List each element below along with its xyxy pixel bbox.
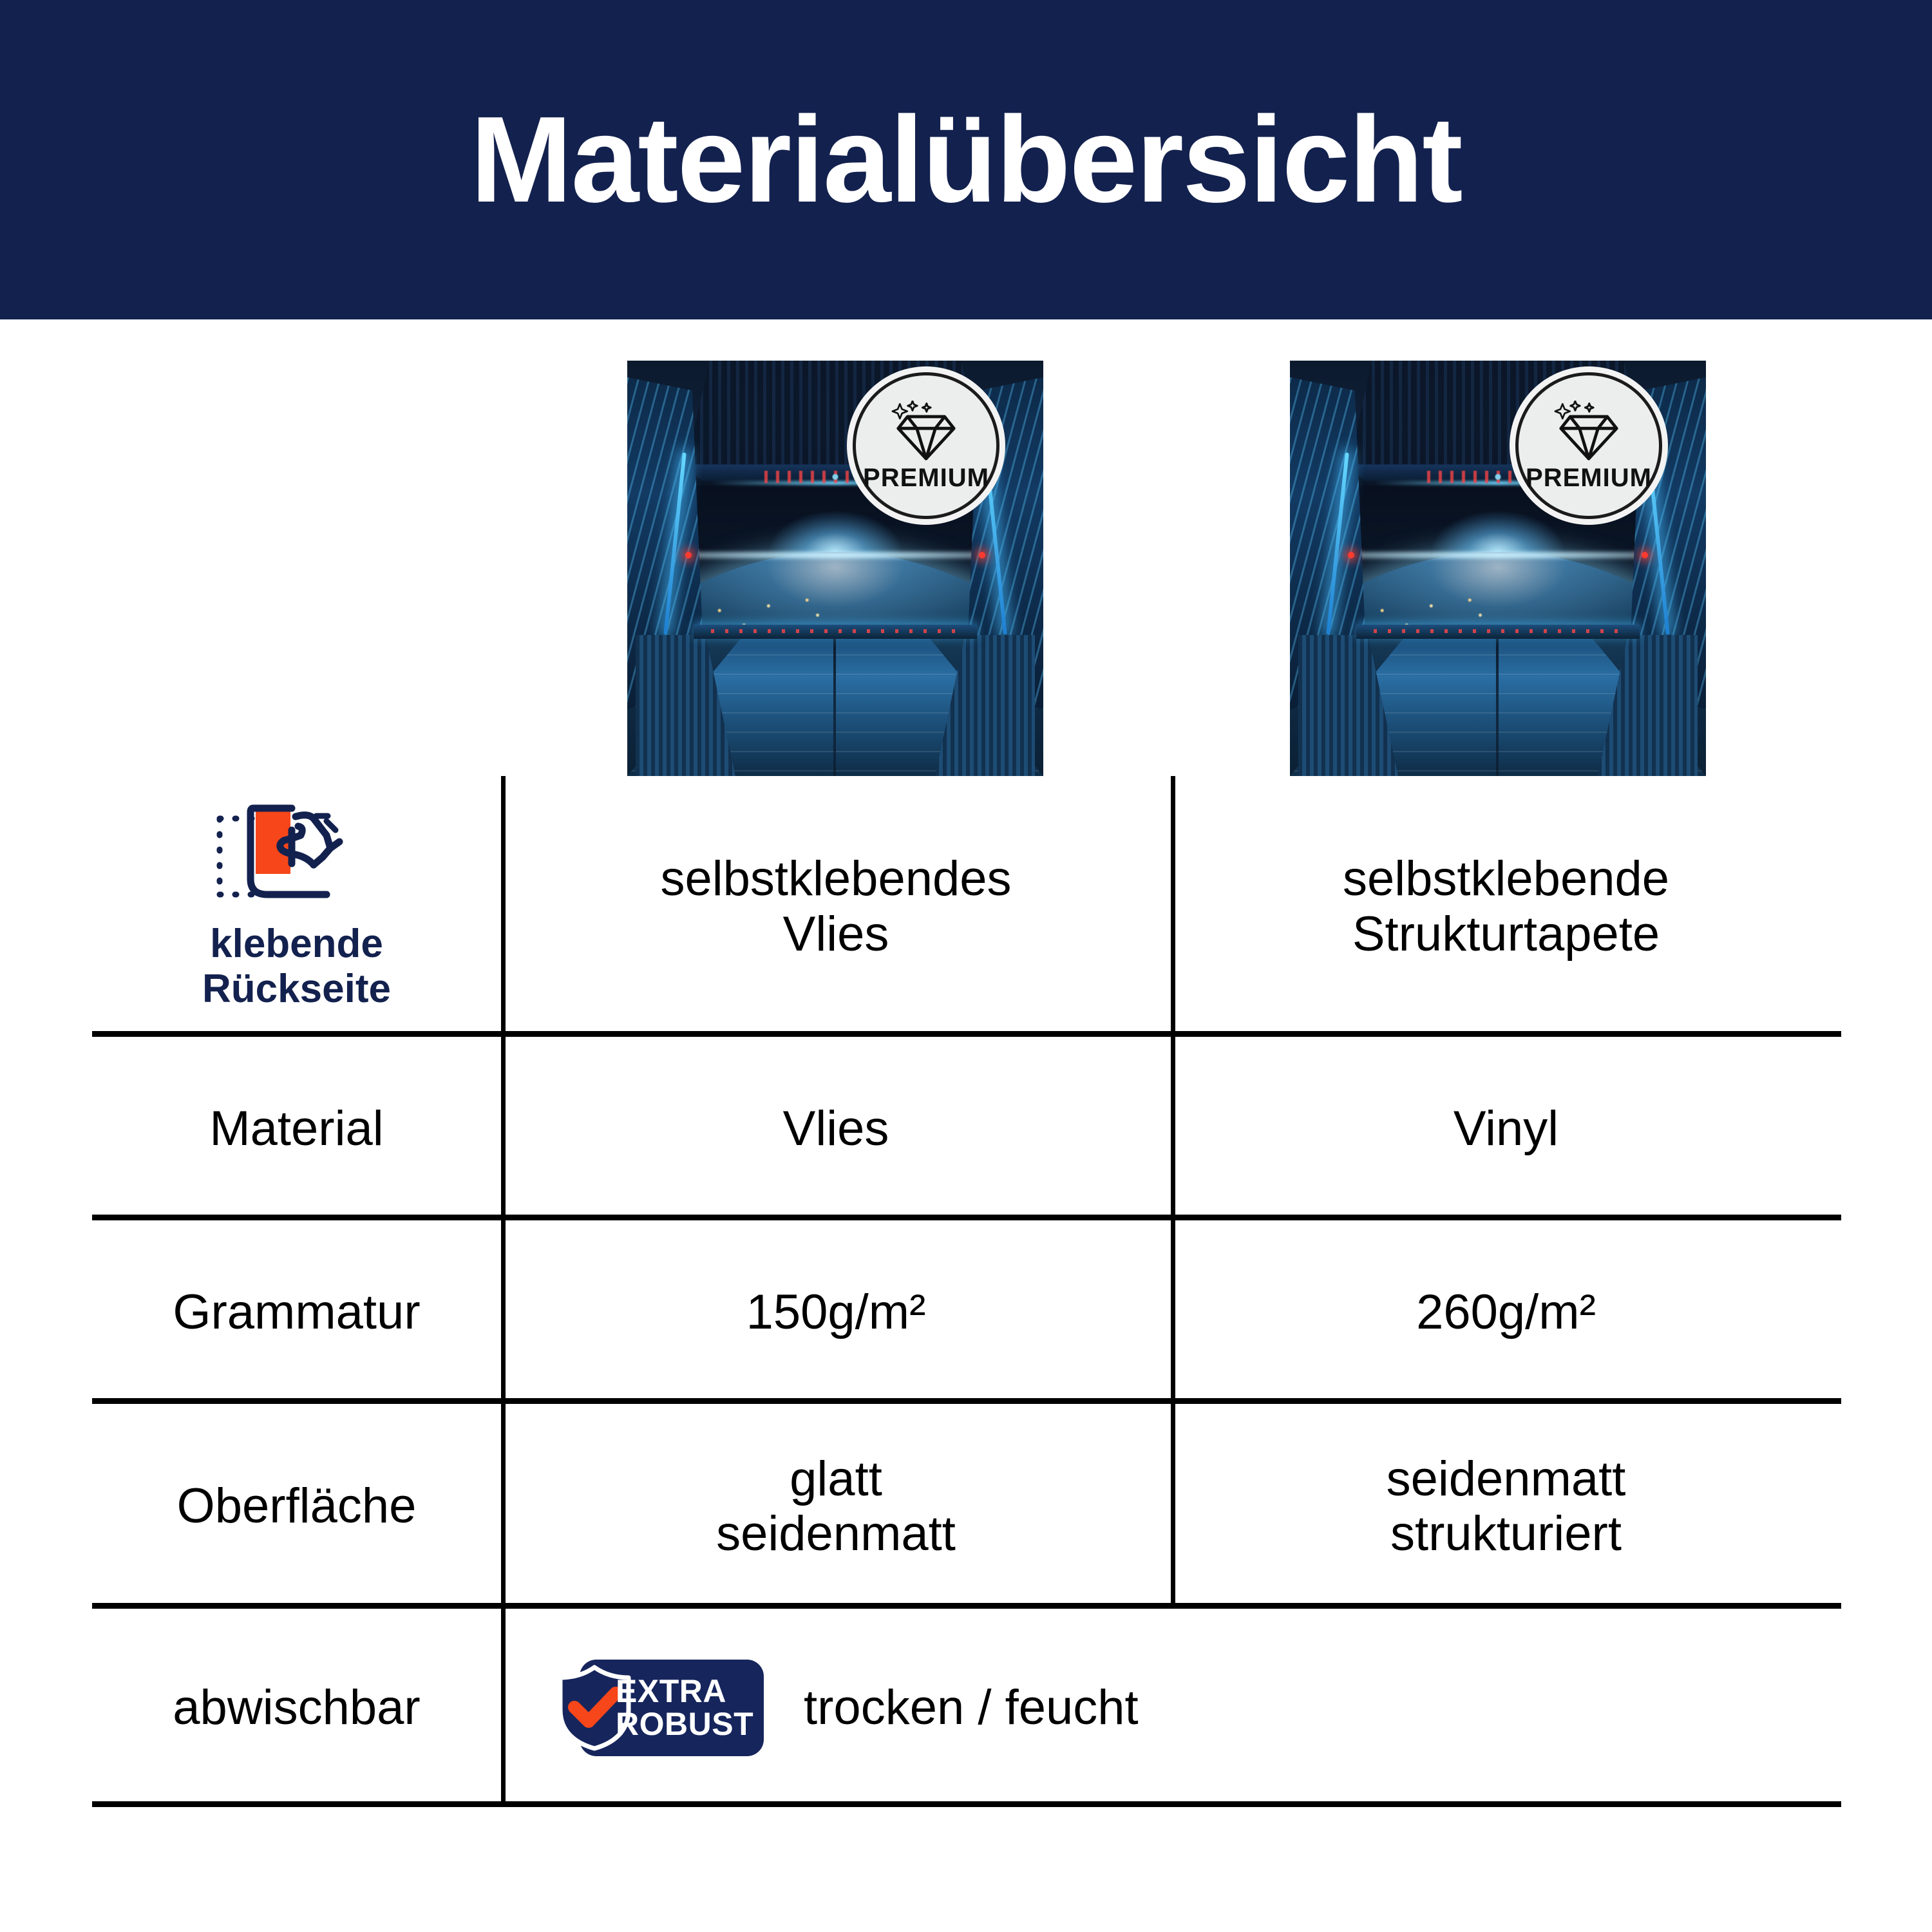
column-header-vlies-line1: selbstklebendes xyxy=(660,851,1011,906)
cell-oberflaeche-vlies-line2: seidenmatt xyxy=(716,1506,956,1561)
backing-cell: klebende Rückseite xyxy=(92,802,501,1011)
product-preview-vlies[interactable]: PREMIUM xyxy=(627,361,1043,776)
extra-robust-line1: EXTRA xyxy=(616,1675,726,1708)
backing-label-line1: klebende xyxy=(210,922,383,966)
table-row-grammatur: Grammatur 150g/m² 260g/m² xyxy=(92,1220,1841,1404)
cell-abwischbar-value: EXTRA ROBUST trocken / feucht xyxy=(501,1660,1841,1756)
table-row-header: klebende Rückseite selbstklebendes Vlies… xyxy=(92,776,1841,1037)
column-header-strukturtapete: selbstklebende Strukturtapete xyxy=(1171,851,1841,961)
backing-label: klebende Rückseite xyxy=(202,922,391,1011)
cell-oberflaeche-vlies: glatt seidenmatt xyxy=(501,1452,1171,1561)
row-label-material: Material xyxy=(92,1101,501,1156)
material-comparison-table: klebende Rückseite selbstklebendes Vlies… xyxy=(92,776,1841,1807)
column-header-strukturtapete-line2: Strukturtapete xyxy=(1352,907,1660,961)
adhesive-backing-icon xyxy=(213,802,381,911)
cell-grammatur-vinyl: 260g/m² xyxy=(1171,1285,1841,1340)
page-title: Materialübersicht xyxy=(470,99,1461,221)
table-row-abwischbar: abwischbar EXTRA ROBUST trocken / feucht xyxy=(92,1609,1841,1807)
cell-abwischbar-text: trocken / feucht xyxy=(804,1680,1139,1735)
extra-robust-badge: EXTRA ROBUST xyxy=(546,1660,764,1756)
table-row-material: Material Vlies Vinyl xyxy=(92,1037,1841,1220)
cell-oberflaeche-vinyl-line1: seidenmatt xyxy=(1387,1452,1626,1506)
cell-material-vlies: Vlies xyxy=(501,1101,1171,1156)
premium-badge: PREMIUM xyxy=(853,372,999,519)
table-row-oberflaeche: Oberfläche glatt seidenmatt seidenmatt s… xyxy=(92,1404,1841,1609)
column-header-vlies-line2: Vlies xyxy=(783,907,889,961)
cell-grammatur-vlies: 150g/m² xyxy=(501,1285,1171,1340)
product-preview-strukturtapete[interactable]: PREMIUM xyxy=(1290,361,1706,776)
diamond-icon xyxy=(888,401,964,462)
cell-oberflaeche-vinyl-line2: strukturiert xyxy=(1390,1506,1622,1561)
premium-badge-label: PREMIUM xyxy=(863,465,989,491)
column-header-strukturtapete-line1: selbstklebende xyxy=(1343,851,1669,906)
row-label-grammatur: Grammatur xyxy=(92,1285,501,1340)
row-label-abwischbar: abwischbar xyxy=(92,1680,501,1735)
cell-material-vinyl: Vinyl xyxy=(1171,1101,1841,1156)
diamond-icon xyxy=(1551,401,1627,462)
cell-oberflaeche-vinyl: seidenmatt strukturiert xyxy=(1171,1452,1841,1561)
cell-oberflaeche-vlies-line1: glatt xyxy=(790,1452,882,1506)
column-header-vlies: selbstklebendes Vlies xyxy=(501,851,1171,961)
row-label-oberflaeche: Oberfläche xyxy=(92,1479,501,1533)
extra-robust-line2: ROBUST xyxy=(616,1708,753,1741)
page-header: Materialübersicht xyxy=(0,0,1932,319)
premium-badge-label: PREMIUM xyxy=(1526,465,1652,491)
backing-label-line2: Rückseite xyxy=(202,967,391,1011)
premium-badge: PREMIUM xyxy=(1515,372,1662,519)
